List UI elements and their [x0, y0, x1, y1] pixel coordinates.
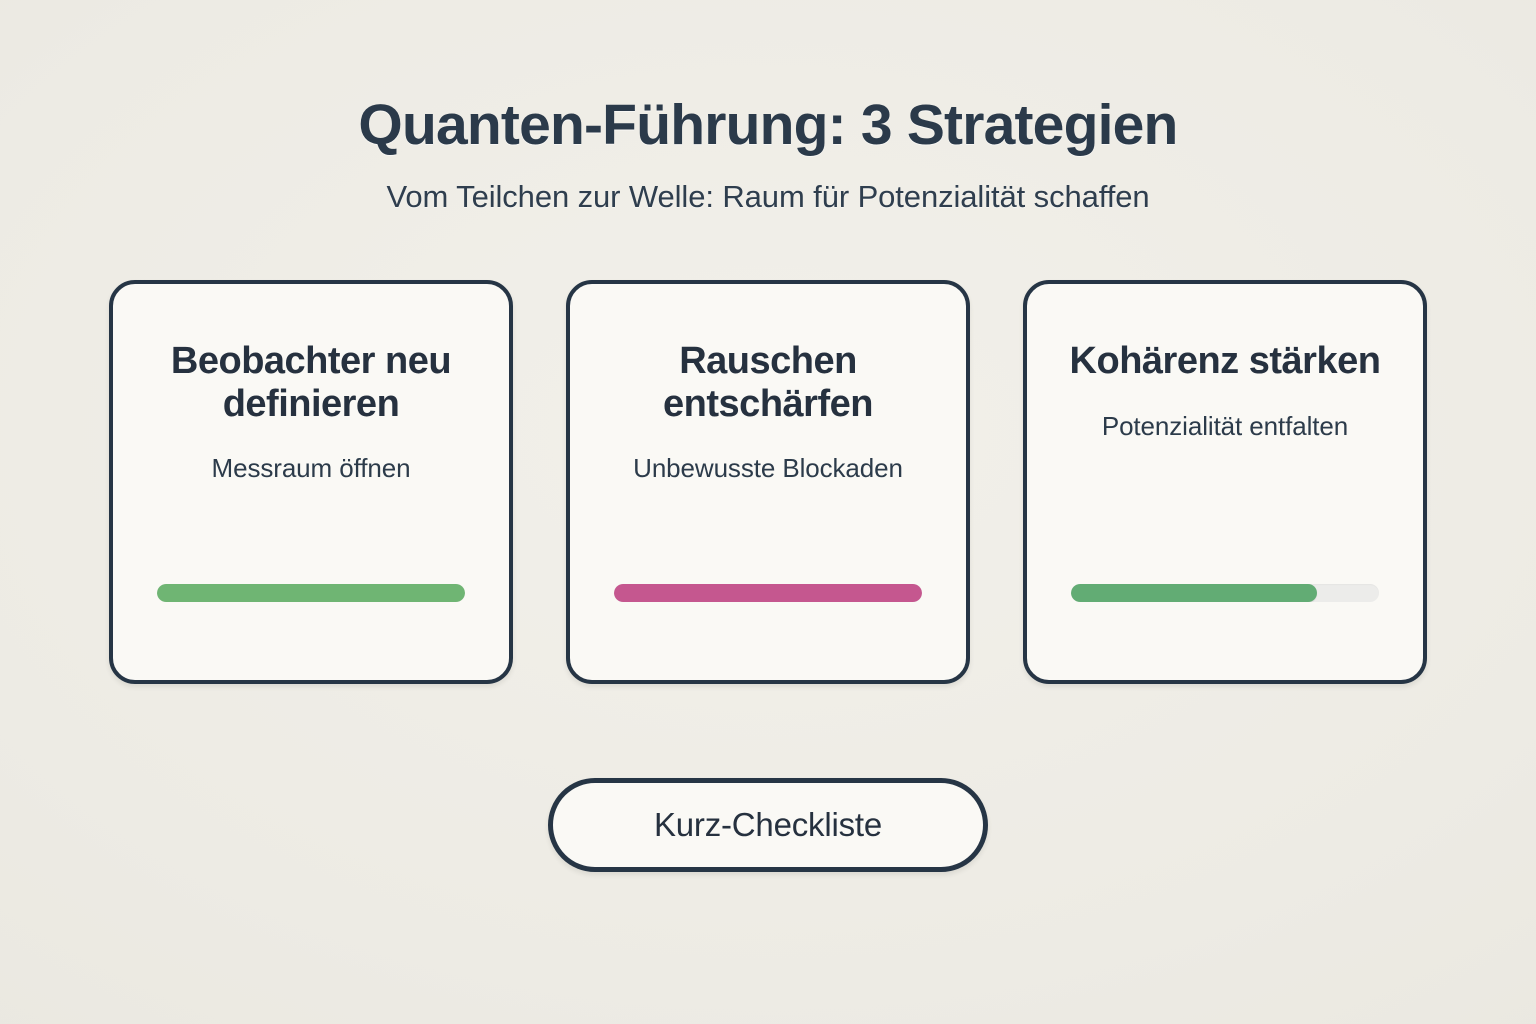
page-title: Quanten-Führung: 3 Strategien: [0, 95, 1536, 157]
poster-canvas: Quanten-Führung: 3 Strategien Vom Teilch…: [0, 0, 1536, 1024]
strategy-card-2-progress: [614, 584, 922, 602]
footer: Kurz-Checkliste: [548, 778, 988, 872]
progress-fill: [614, 584, 922, 602]
strategy-card-1-progress: [157, 584, 465, 602]
strategy-card-2-title: Rauschen entschärfen: [596, 340, 940, 425]
strategy-card-1-subtitle: Messraum öffnen: [212, 453, 411, 484]
progress-track: [614, 584, 922, 602]
strategy-card-3[interactable]: Kohärenz stärken Potenzialität entfalten: [1023, 280, 1427, 684]
strategy-card-2[interactable]: Rauschen entschärfen Unbewusste Blockade…: [566, 280, 970, 684]
progress-track: [157, 584, 465, 602]
strategy-card-1[interactable]: Beobachter neu definieren Messraum öffne…: [109, 280, 513, 684]
header: Quanten-Führung: 3 Strategien Vom Teilch…: [0, 0, 1536, 214]
strategy-card-2-subtitle: Unbewusste Blockaden: [633, 453, 903, 484]
page-subtitle: Vom Teilchen zur Welle: Raum für Potenzi…: [0, 179, 1536, 215]
strategy-card-grid: Beobachter neu definieren Messraum öffne…: [109, 280, 1427, 684]
kurz-checkliste-button[interactable]: Kurz-Checkliste: [548, 778, 988, 872]
progress-track: [1071, 584, 1379, 602]
strategy-card-3-subtitle: Potenzialität entfalten: [1102, 411, 1348, 442]
progress-fill: [1071, 584, 1317, 602]
strategy-card-1-title: Beobachter neu definieren: [139, 340, 483, 425]
strategy-card-3-title: Kohärenz stärken: [1070, 340, 1381, 383]
progress-fill: [157, 584, 465, 602]
strategy-card-3-progress: [1071, 584, 1379, 602]
